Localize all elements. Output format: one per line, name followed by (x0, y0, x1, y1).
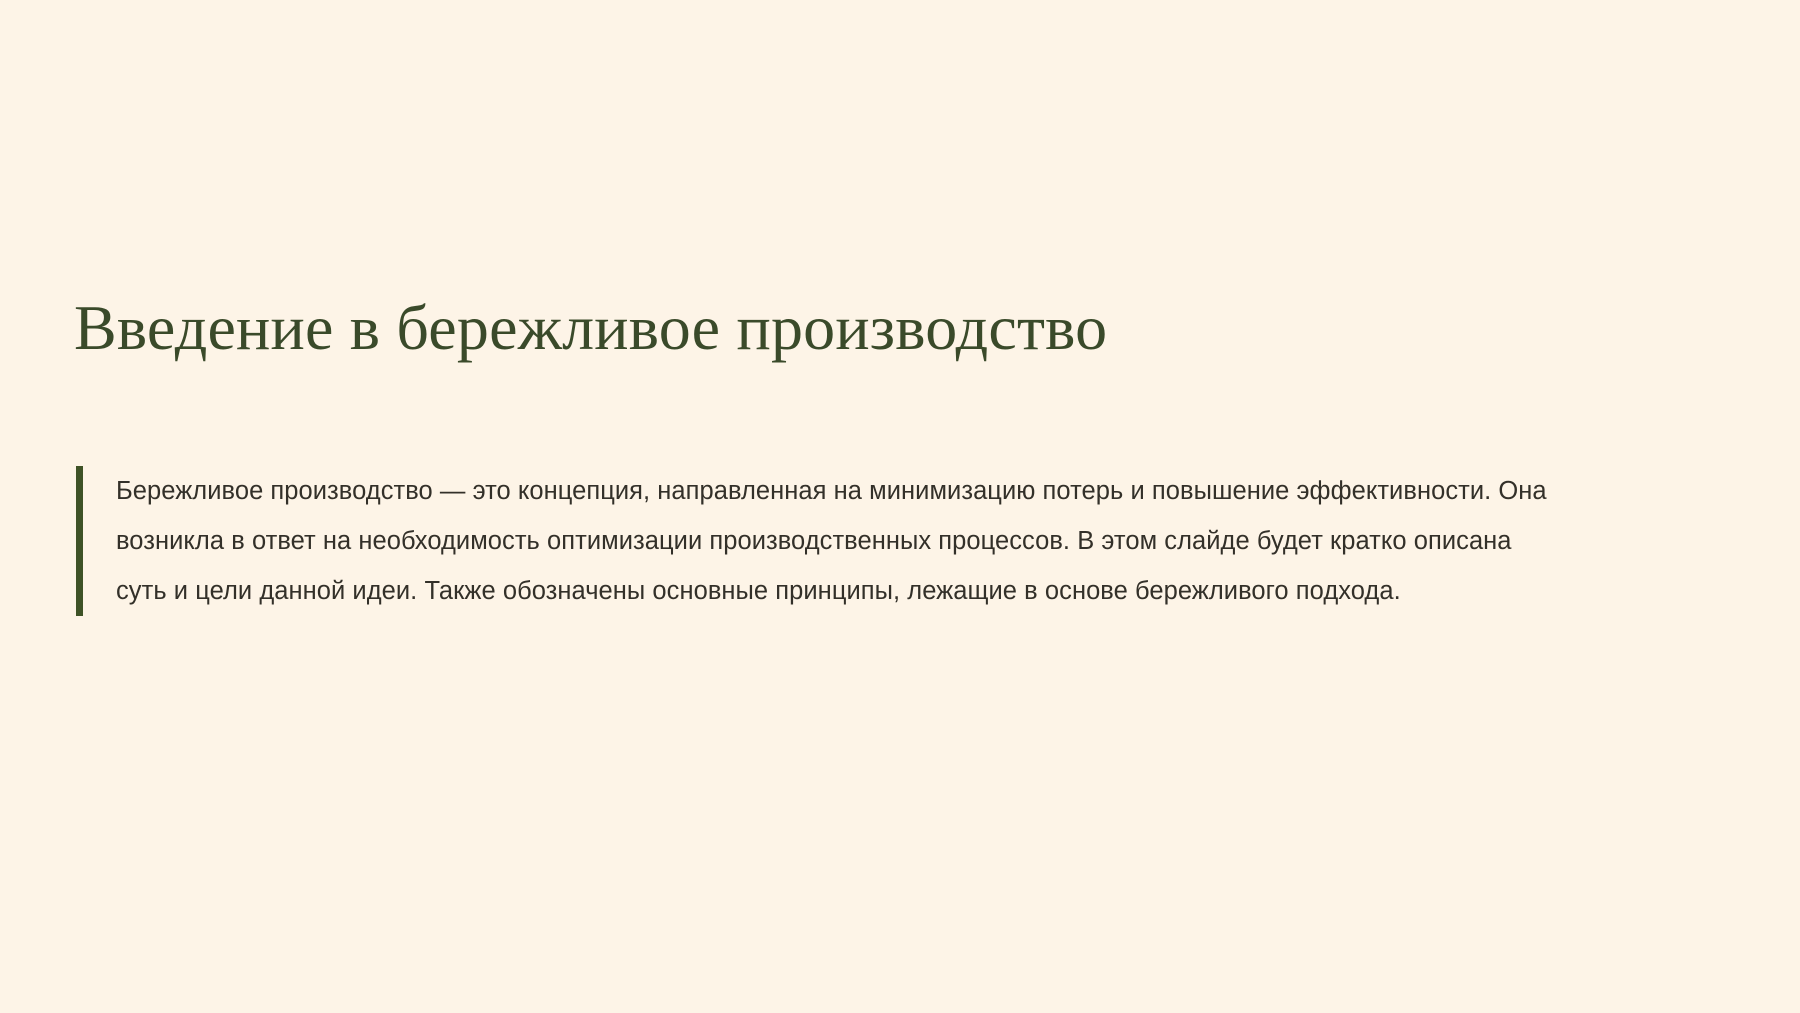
body-paragraph: Бережливое производство — это концепция,… (116, 466, 1566, 616)
page-title: Введение в бережливое производство (74, 292, 1594, 364)
body-callout-block: Бережливое производство — это концепция,… (76, 466, 1566, 616)
body-text-container: Бережливое производство — это концепция,… (83, 466, 1566, 616)
accent-bar-decoration (76, 466, 83, 616)
slide-canvas: Введение в бережливое производство Береж… (0, 0, 1800, 1013)
